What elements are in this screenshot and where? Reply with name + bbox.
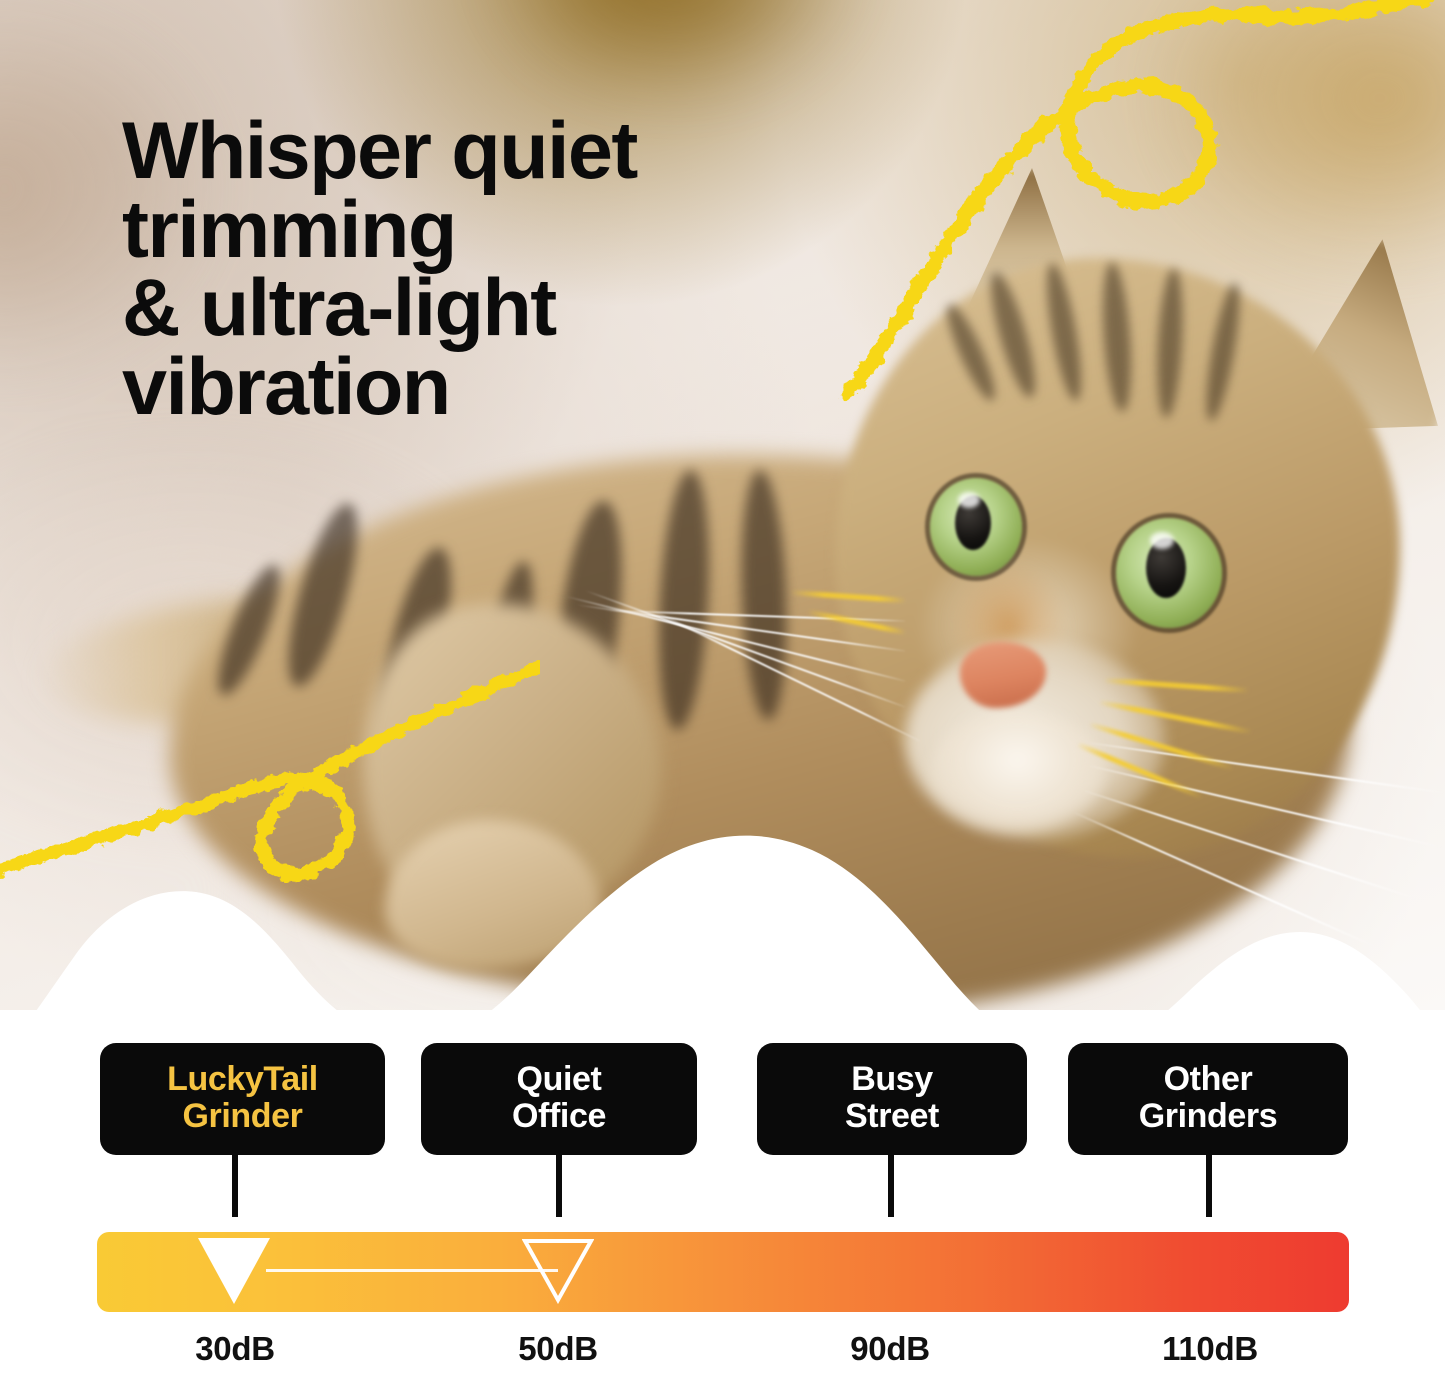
chart-stem-busy-street (888, 1155, 894, 1217)
chart-stem-quiet-office (556, 1155, 562, 1217)
headline-line-2: trimming (122, 191, 822, 270)
chart-label-line-1: Other (1139, 1061, 1278, 1098)
marker-connector-line (266, 1269, 558, 1272)
chart-stem-luckytail-grinder (232, 1155, 238, 1217)
chart-stem-other-grinders (1206, 1155, 1212, 1217)
headline-line-4: vibration (122, 348, 822, 427)
page-title: Whisper quiet trimming & ultra-light vib… (122, 112, 822, 426)
promo-infographic: Whisper quiet trimming & ultra-light vib… (0, 0, 1445, 1376)
tick-label-30db: 30dB (195, 1330, 275, 1368)
chart-label-quiet-office: Quiet Office (421, 1043, 697, 1155)
chart-label-line-2: Office (512, 1098, 606, 1135)
cat-eye-glint (1150, 532, 1174, 549)
chart-label-line-2: Grinders (1139, 1098, 1278, 1135)
chart-label-other-grinders: Other Grinders (1068, 1043, 1348, 1155)
marker-quiet-office (522, 1238, 594, 1304)
cat-eye-glint (958, 492, 980, 508)
chart-label-line-2: Grinder (167, 1098, 318, 1135)
headline-line-1: Whisper quiet (122, 112, 822, 191)
marker-luckytail-grinder (198, 1238, 270, 1304)
tick-label-50db: 50dB (518, 1330, 598, 1368)
chart-label-line-2: Street (845, 1098, 939, 1135)
chart-label-line-1: Busy (845, 1061, 939, 1098)
chart-label-luckytail-grinder: LuckyTail Grinder (100, 1043, 385, 1155)
chart-label-busy-street: Busy Street (757, 1043, 1027, 1155)
headline-line-3: & ultra-light (122, 269, 822, 348)
tick-label-90db: 90dB (850, 1330, 930, 1368)
wave-divider (0, 820, 1445, 1010)
tick-label-110db: 110dB (1162, 1330, 1258, 1368)
chart-label-line-1: Quiet (512, 1061, 606, 1098)
noise-comparison-chart: LuckyTail Grinder Quiet Office Busy Stre… (0, 1010, 1445, 1376)
noise-scale-bar (97, 1232, 1349, 1312)
chart-label-line-1: LuckyTail (167, 1061, 318, 1098)
